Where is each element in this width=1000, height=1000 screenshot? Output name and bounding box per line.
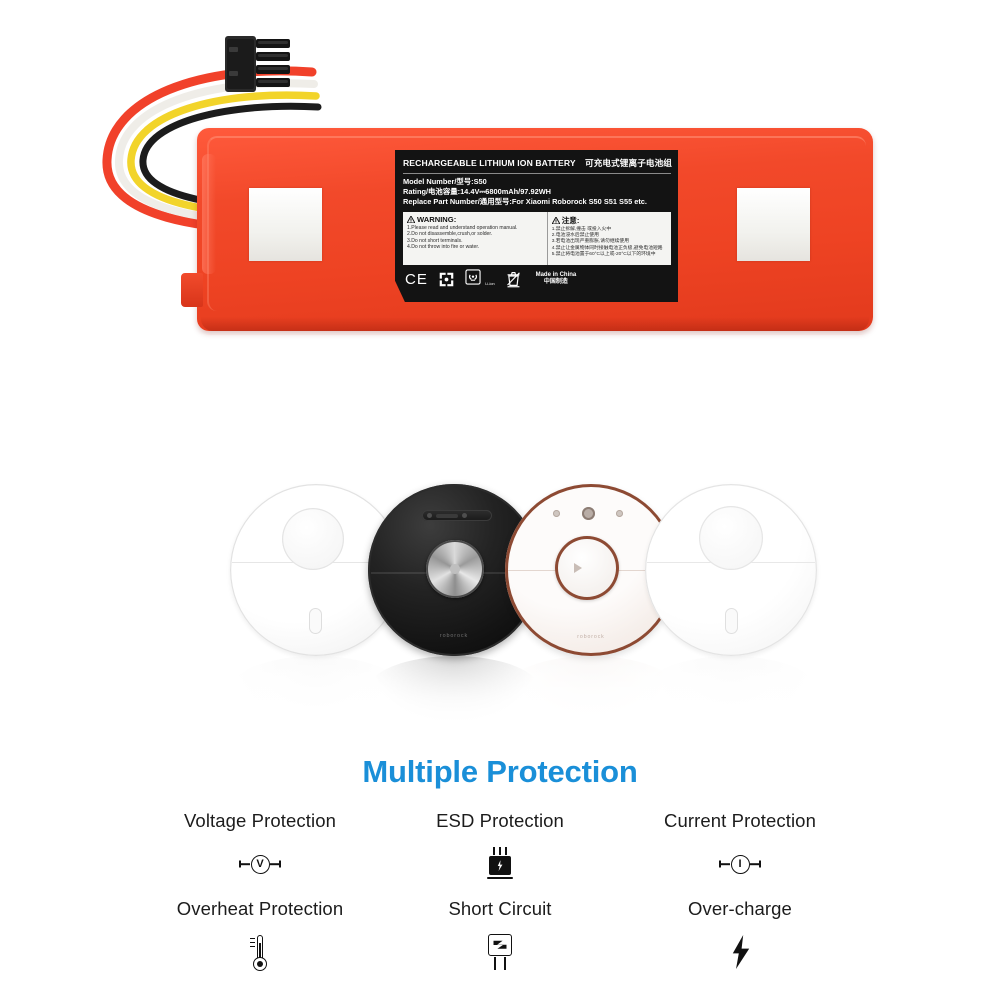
warning-triangle-icon	[552, 217, 560, 224]
warning-chinese-heading: 注意:	[552, 215, 667, 226]
protection-feature-label: Short Circuit	[448, 898, 551, 920]
made-in-en: Made in China	[536, 272, 577, 278]
meter-lead-left	[239, 863, 250, 865]
esd-arc	[505, 847, 507, 855]
meter-cap-right	[279, 861, 281, 868]
ce-mark-icon: CE	[405, 272, 428, 287]
battery-foam-pad-right	[737, 188, 810, 261]
li-ion-recycle-mark-icon: Li-ion	[465, 269, 495, 290]
warning-english-heading: WARNING:	[407, 215, 543, 224]
li-ion-caption: Li-ion	[485, 282, 494, 286]
thermometer-icon	[249, 932, 271, 972]
warning-heading-text: 注意:	[562, 215, 580, 226]
protection-feature-short-circuit: Short Circuit	[380, 898, 620, 986]
protection-feature-label: ESD Protection	[436, 810, 564, 832]
fuse-body	[488, 934, 512, 956]
robot-sensor-dot	[462, 513, 467, 518]
robot-button-row	[553, 506, 623, 520]
label-divider	[403, 173, 671, 174]
warning-item: 4.Do not throw into fire or water.	[407, 244, 543, 251]
li-ion-loop-icon	[465, 269, 481, 285]
multiple-protection-section: Multiple Protection Voltage Protection V…	[0, 732, 1000, 1000]
label-replace-part-number: Replace Part Number/通用型号:For Xiaomi Robo…	[395, 197, 678, 207]
label-model-number: Model Number/型号:S50	[395, 177, 678, 187]
compatible-robots-section: roborock roborock	[0, 462, 1000, 732]
robot-spot-button	[616, 510, 623, 517]
robot-sensor-bar	[422, 510, 492, 521]
protection-heading: Multiple Protection	[0, 732, 1000, 790]
label-certification-row: CE	[395, 265, 678, 290]
robot-lidar-turret	[555, 536, 619, 600]
4-pin-power-connector	[205, 33, 293, 95]
esd-arc	[499, 847, 501, 855]
protection-feature-grid: Voltage Protection V ESD Protection	[140, 810, 860, 986]
protection-feature-label: Over-charge	[688, 898, 792, 920]
label-rating: Rating/电池容量:14.4V⎓6800mAh/97.92WH	[395, 187, 678, 197]
voltmeter-icon: V	[239, 844, 281, 884]
battery-mount-notch	[181, 273, 203, 307]
warning-english-column: WARNING: 1.Please read and understand op…	[403, 212, 548, 265]
protection-feature-current: Current Protection I	[620, 810, 860, 898]
protection-feature-label: Voltage Protection	[184, 810, 336, 832]
thermometer-bulb	[253, 957, 267, 971]
protection-feature-overheat: Overheat Protection	[140, 898, 380, 986]
fuse-leg	[494, 957, 496, 970]
esd-base	[487, 877, 513, 880]
thermometer-tick	[250, 942, 255, 943]
fuse-icon	[487, 932, 513, 972]
battery-spec-label: RECHARGEABLE LITHIUM ION BATTERY 可充电式锂离子…	[395, 150, 678, 302]
esd-discharge-icon	[487, 844, 513, 884]
battery-hero-section: RECHARGEABLE LITHIUM ION BATTERY 可充电式锂离子…	[0, 0, 1000, 462]
lightning-bolt-icon	[730, 932, 750, 972]
fuse-leg	[504, 957, 506, 970]
meter-cap-left	[719, 861, 721, 868]
battery-reflection	[197, 334, 873, 454]
battery-foam-pad-left	[249, 188, 322, 261]
protection-feature-voltage: Voltage Protection V	[140, 810, 380, 898]
robot-power-button	[582, 507, 595, 520]
esd-arc	[493, 847, 495, 855]
robot-lidar-turret	[282, 508, 344, 570]
robot-sensor-dot	[427, 513, 432, 518]
label-title-cn: 可充电式锂离子电池组	[585, 158, 672, 168]
made-in-china-text: Made in China 中国制造	[536, 272, 577, 287]
robot-vacuum-white-2	[645, 484, 817, 656]
protection-feature-over-charge: Over-charge	[620, 898, 860, 986]
warning-item: 1.Please read and understand operation m…	[407, 225, 543, 232]
made-in-cn: 中国制造	[544, 279, 568, 285]
reflection-fade-overlay	[197, 334, 873, 454]
voltmeter-glyph: V	[239, 853, 281, 875]
protection-feature-esd: ESD Protection	[380, 810, 620, 898]
robot-power-button	[725, 608, 738, 634]
label-warning-block: WARNING: 1.Please read and understand op…	[403, 212, 671, 265]
protection-feature-label: Overheat Protection	[177, 898, 343, 920]
esd-glyph	[487, 847, 513, 881]
meter-symbol: I	[731, 855, 750, 874]
lightning-bolt-glyph	[730, 935, 750, 969]
warning-item: 2.Do not disassemble,crush,or solder.	[407, 231, 543, 238]
protection-feature-label: Current Protection	[664, 810, 816, 832]
warning-heading-text: WARNING:	[417, 215, 456, 224]
meter-cap-right	[759, 861, 761, 868]
recycle-mark-icon	[438, 271, 455, 288]
warning-triangle-icon	[407, 216, 415, 223]
robot-lidar-turret	[699, 506, 763, 570]
weee-crossed-bin-icon	[505, 270, 522, 288]
label-title-row: RECHARGEABLE LITHIUM ION BATTERY 可充电式锂离子…	[395, 150, 678, 172]
meter-lead-left	[719, 863, 730, 865]
warning-chinese-column: 注意: 1.禁止拆解,撞击 或投入火中 2.电池浸水后禁止使用 3.若电池出现严…	[548, 212, 671, 265]
ammeter-icon: I	[719, 844, 761, 884]
robot-sensor-window	[436, 514, 458, 518]
thermometer-tick	[250, 938, 255, 939]
robots-fade-overlay	[0, 658, 1000, 732]
label-title-en: RECHARGEABLE LITHIUM ION BATTERY	[403, 158, 576, 168]
thermometer-glyph	[249, 933, 271, 971]
battery-bottom-edge	[201, 317, 869, 331]
warning-item: 3.Do not short terminals.	[407, 238, 543, 245]
thermometer-tick	[250, 946, 255, 947]
meter-cap-left	[239, 861, 241, 868]
esd-body	[489, 856, 511, 875]
ammeter-glyph: I	[719, 853, 761, 875]
meter-symbol: V	[251, 855, 270, 874]
robot-home-button	[553, 510, 560, 517]
fuse-glyph	[487, 934, 513, 970]
warning-item: 5.禁止将电池置于60°C以上或-20°C以下的环境中	[552, 252, 667, 258]
robot-lidar-turret	[426, 540, 484, 598]
battery-pack-body: RECHARGEABLE LITHIUM ION BATTERY 可充电式锂离子…	[197, 128, 873, 331]
robot-power-button	[309, 608, 322, 634]
robot-brand-text: roborock	[505, 634, 677, 640]
